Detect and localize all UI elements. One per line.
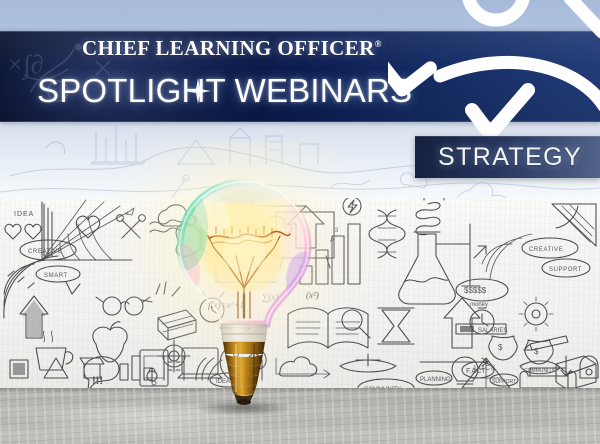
registered-trademark-icon: ® — [375, 39, 382, 49]
svg-text:PLANNING: PLANNING — [420, 377, 451, 383]
tagline-text: SPOTLIGHT WEBINARS — [37, 72, 412, 110]
svg-text:CREATIVE: CREATIVE — [529, 247, 563, 253]
category-tab-label: STRATEGY — [438, 143, 582, 172]
svg-text:SMART: SMART — [44, 273, 68, 279]
svg-text:F.ACT: F.ACT — [466, 368, 486, 375]
svg-text:SUPPORT: SUPPORT — [549, 267, 582, 273]
lightbulb-svg — [168, 176, 320, 408]
brand-name: CHIEF LEARNING OFFICER — [82, 36, 375, 60]
svg-text:SALARIES: SALARIES — [478, 328, 507, 334]
svg-text:$: $ — [498, 343, 503, 352]
svg-text:money: money — [470, 302, 488, 308]
svg-text:3: 3 — [335, 228, 339, 234]
svg-text:COMMUNITY: COMMUNITY — [524, 368, 555, 374]
svg-text:CREATIVE: CREATIVE — [28, 249, 62, 255]
category-tab-strategy[interactable]: STRATEGY — [415, 136, 600, 178]
svg-text:IDEA: IDEA — [14, 211, 34, 218]
svg-text:SUPPORT: SUPPORT — [492, 379, 516, 385]
bulb-shadow — [196, 400, 292, 416]
brand-wordmark: CHIEF LEARNING OFFICER® — [82, 36, 381, 61]
svg-text:$$$$$: $$$$$ — [464, 286, 487, 295]
webinar-promo-banner: e = mc 2 IDEA CREATIVE SMART — [0, 0, 600, 444]
lightbulb-graphic — [168, 176, 320, 408]
